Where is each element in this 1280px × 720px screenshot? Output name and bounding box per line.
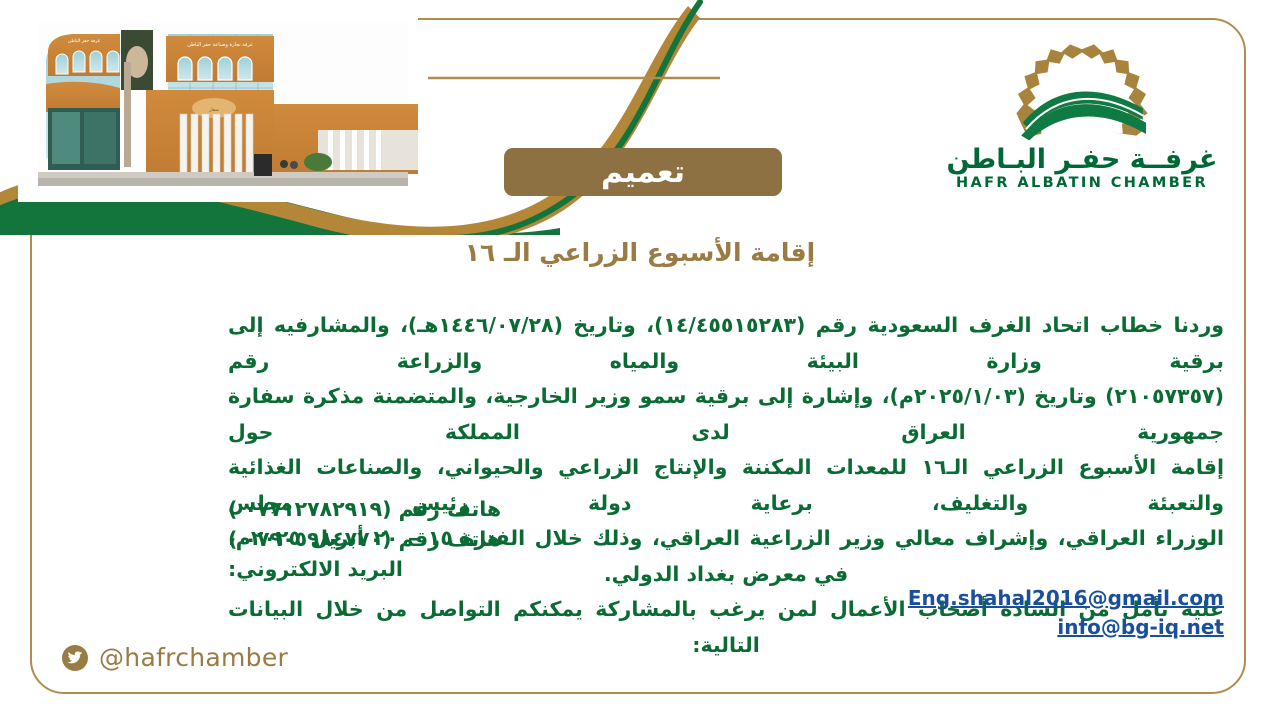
chamber-logo: غرفــة حفـر البـاطن HAFR ALBATIN CHAMBER xyxy=(942,44,1222,209)
contact-details: هاتف رقم (٠٧٧١٢٧٨٢٩١٩ ) هاتف رقم (٠٧٩٠٥٩… xyxy=(228,494,1224,642)
svg-text:شعار: شعار xyxy=(208,108,219,113)
chamber-logo-mark-icon xyxy=(1002,44,1162,144)
phone-number-1: هاتف رقم (٠٧٧١٢٧٨٢٩١٩ ) xyxy=(228,494,1224,524)
twitter-icon xyxy=(62,645,88,671)
logo-name-arabic: غرفــة حفـر البـاطن xyxy=(942,146,1222,174)
svg-text:غرفة تجارة وصناعة حفر الباطن: غرفة تجارة وصناعة حفر الباطن xyxy=(187,42,253,48)
page-title: إقامة الأسبوع الزراعي الـ ١٦ xyxy=(0,238,1280,267)
email-link-2[interactable]: info@bg-iq.net xyxy=(228,613,1224,642)
logo-name-english: HAFR ALBATIN CHAMBER xyxy=(942,175,1222,191)
phone-number-2: هاتف رقم (٠٧٩٠٥٩٨٤٧٧٠ ) xyxy=(228,524,1224,554)
chamber-building-photo: غرفة تجارة وصناعة حفر الباطن شعار xyxy=(18,12,418,202)
banner-label: تعميم xyxy=(601,155,685,190)
body-line-1: وردنا خطاب اتحاد الغرف السعودية رقم (١٤/… xyxy=(228,308,1224,379)
twitter-bird-glyph xyxy=(67,651,83,665)
building-photo-svg: غرفة تجارة وصناعة حفر الباطن شعار xyxy=(18,12,418,202)
email-link-1[interactable]: Eng.shahal2016@gmail.com xyxy=(228,584,1224,613)
svg-text:غرفة حفر الباطن: غرفة حفر الباطن xyxy=(68,39,101,44)
twitter-handle-text: @hafrchamber xyxy=(99,643,288,672)
body-line-2: (٢١٠٥٧٣٥٧) وتاريخ (٢٠٢٥/١/٠٣م)، وإشارة إ… xyxy=(228,379,1224,450)
circular-title-banner: تعميم xyxy=(504,148,782,196)
email-label: البريد الالكتروني: xyxy=(228,554,1224,584)
twitter-handle[interactable]: @hafrchamber xyxy=(62,643,288,672)
